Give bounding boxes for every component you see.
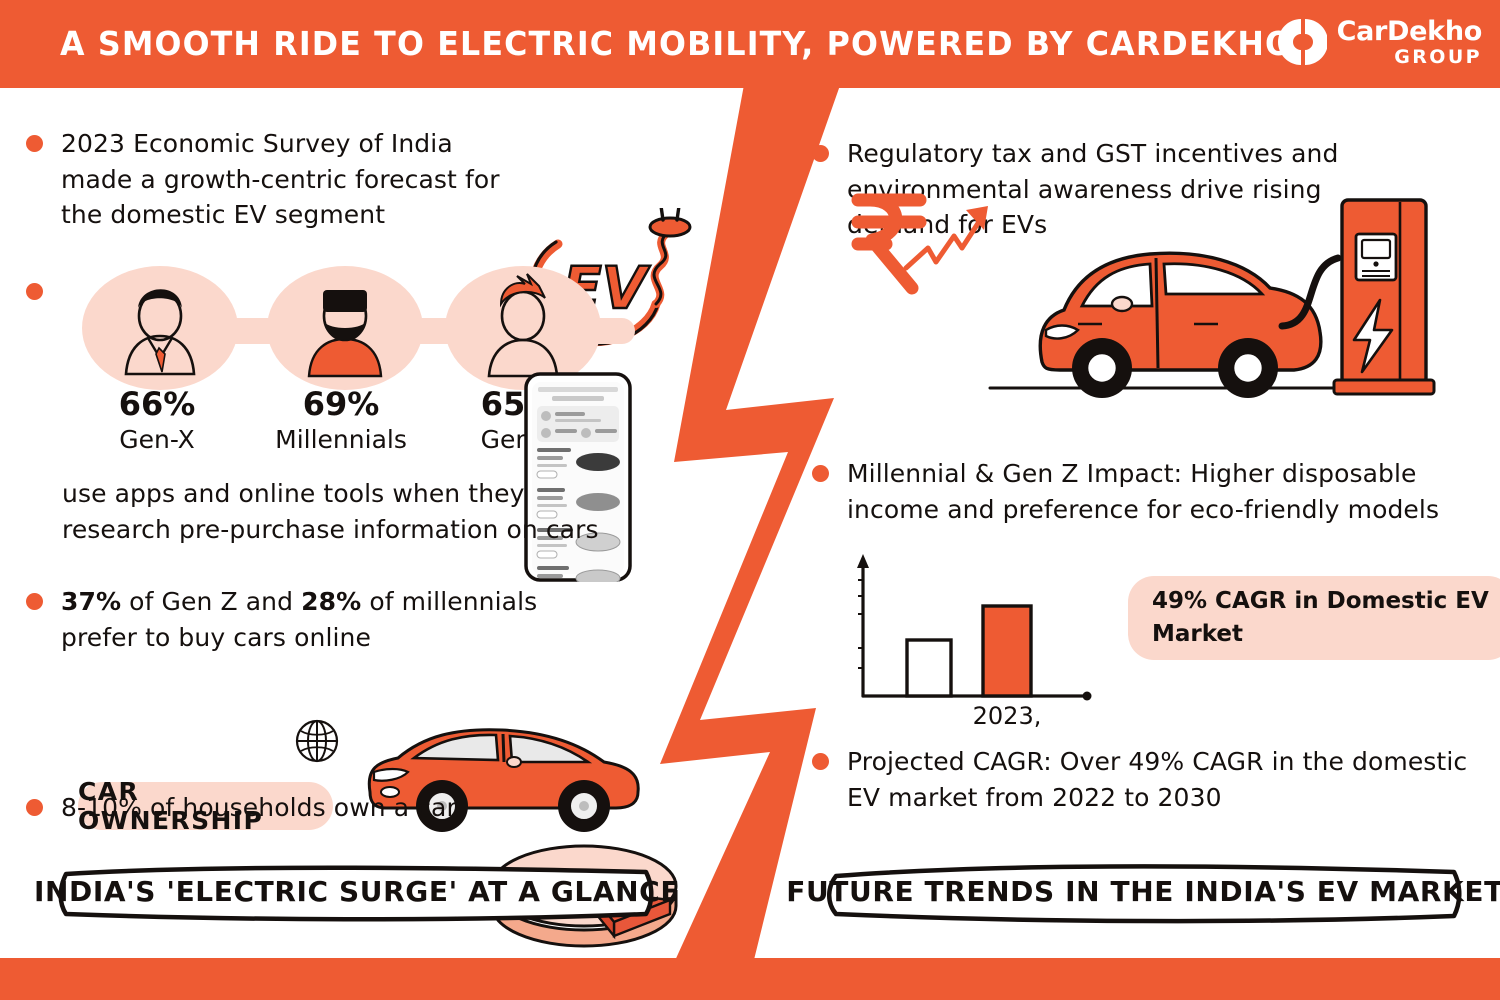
left-footer-label: INDIA'S 'ELECTRIC SURGE' AT A GLANCE xyxy=(52,858,662,924)
bullet-dot-icon xyxy=(26,135,43,152)
bar-chart-x-label: 2023, xyxy=(973,702,1042,728)
stat-gen-z-online: 37% xyxy=(61,587,121,616)
cardekho-logo-icon xyxy=(1275,16,1327,68)
bullet-left-1-text: 2023 Economic Survey of India made a gro… xyxy=(61,126,526,233)
stat-millennials: 69% Millennials xyxy=(266,388,416,454)
bullet-right-2-text: Millennial & Gen Z Impact: Higher dispos… xyxy=(847,456,1472,527)
bullet-left-households: 8-10% of households own a car xyxy=(26,790,546,826)
bullet-dot-icon xyxy=(26,799,43,816)
online-mid-text: of Gen Z and xyxy=(121,587,301,616)
footer-band xyxy=(0,958,1500,1000)
stat-millennials-value: 69% xyxy=(266,388,416,420)
cagr-highlight-text: 49% CAGR in Domestic EV Market xyxy=(1152,585,1490,652)
bullet-dot-icon xyxy=(26,593,43,610)
bullet-dot-icon xyxy=(26,283,43,300)
ev-market-bar-chart: 2023, xyxy=(845,548,1135,728)
cagr-highlight-badge: 49% CAGR in Domestic EV Market xyxy=(1128,576,1500,660)
infographic-canvas: A SMOOTH RIDE TO ELECTRIC MOBILITY, POWE… xyxy=(0,0,1500,1000)
ev-charging-illustration xyxy=(850,192,1460,407)
bullet-right-3-text: Projected CAGR: Over 49% CAGR in the dom… xyxy=(847,744,1482,815)
right-panel: Regulatory tax and GST incentives and en… xyxy=(790,96,1490,956)
bullet-dot-icon xyxy=(812,145,829,162)
charging-station-icon xyxy=(1334,200,1434,394)
left-panel: 2023 Economic Survey of India made a gro… xyxy=(0,96,680,956)
stat-gen-x-value: 66% xyxy=(82,388,232,420)
bullet-online-purchase-text: 37% of Gen Z and 28% of millennials pref… xyxy=(61,584,606,655)
stat-millennials-label: Millennials xyxy=(266,426,416,454)
bullet-dot-icon xyxy=(812,753,829,770)
stat-millennials-online: 28% xyxy=(301,587,361,616)
left-footer-label-text: INDIA'S 'ELECTRIC SURGE' AT A GLANCE xyxy=(52,858,662,924)
logo-name: CarDekho xyxy=(1337,18,1482,45)
growth-arrow-icon xyxy=(906,206,988,268)
stat-gen-x-label: Gen-X xyxy=(82,426,232,454)
globe-icon xyxy=(294,718,340,764)
logo-wordmark: CarDekho GROUP xyxy=(1337,18,1482,67)
bullet-online-purchase: 37% of Gen Z and 28% of millennials pref… xyxy=(26,584,606,655)
rupee-icon xyxy=(858,200,920,288)
research-caption: use apps and online tools when they rese… xyxy=(62,476,607,547)
right-footer-label-text: FUTURE TRENDS IN THE INDIA'S EV MARKET xyxy=(820,858,1470,924)
logo-subtitle: GROUP xyxy=(1337,48,1482,67)
bullet-dot-icon xyxy=(812,465,829,482)
bullet-right-3: Projected CAGR: Over 49% CAGR in the dom… xyxy=(812,744,1482,815)
bullet-left-1: 2023 Economic Survey of India made a gro… xyxy=(26,126,526,233)
bullet-right-2: Millennial & Gen Z Impact: Higher dispos… xyxy=(812,456,1472,527)
page-title: A SMOOTH RIDE TO ELECTRIC MOBILITY, POWE… xyxy=(60,24,1193,63)
cardekho-logo: CarDekho GROUP xyxy=(1275,16,1482,68)
bullet-left-households-text: 8-10% of households own a car xyxy=(61,790,457,826)
stat-gen-x: 66% Gen-X xyxy=(82,388,232,454)
right-footer-label: FUTURE TRENDS IN THE INDIA'S EV MARKET xyxy=(820,858,1470,924)
bullet-left-2 xyxy=(26,274,56,300)
